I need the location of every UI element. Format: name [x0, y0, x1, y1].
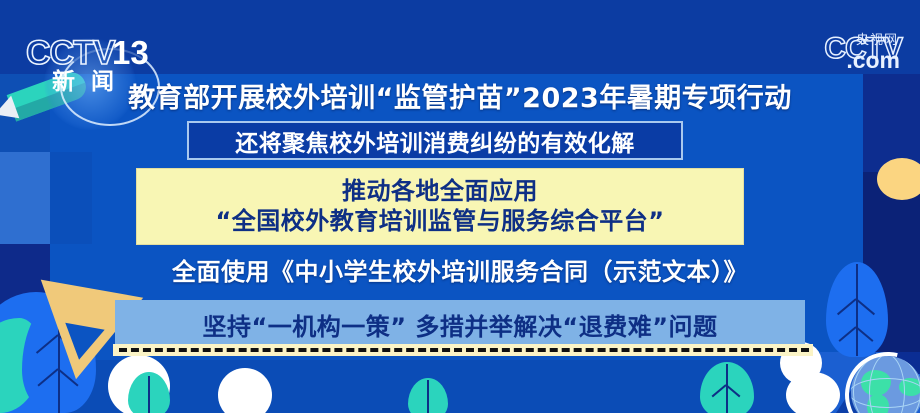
page-title: 教育部开展校外培训“监管护苗”2023年暑期专项行动	[0, 76, 920, 115]
bullet-box-2: 还将聚焦校外培训消费纠纷的有效化解	[187, 121, 683, 160]
bullet-box-3: 推动各地全面应用 “全国校外教育培训监管与服务综合平台”	[136, 168, 744, 245]
bullet-text-2: 还将聚焦校外培训消费纠纷的有效化解	[235, 124, 635, 158]
bullet-text-5: 坚持“一机构一策” 多措并举解决“退费难”问题	[203, 307, 718, 342]
bullet-text-3-line2: “全国校外教育培训监管与服务综合平台”	[215, 207, 664, 236]
cctv-com-chinese: 央视网	[856, 34, 898, 47]
background-left-panel-b	[0, 152, 50, 244]
dashed-divider-line	[119, 348, 809, 352]
bullet-text-3-line1: 推动各地全面应用	[342, 177, 538, 206]
cctv-com-suffix: .com	[846, 49, 900, 72]
bullet-box-5: 坚持“一机构一策” 多措并举解决“退费难”问题	[115, 300, 805, 348]
cctv-com-logo: CCTV 央视网 .com	[824, 34, 902, 64]
background-left-panel-d	[50, 152, 92, 244]
bullet-text-4: 全面使用《中小学生校外培训服务合同（示范文本）》	[0, 252, 920, 287]
news-graphic-stage: CCTV 13 新闻 CCTV 央视网 .com 教育部开展校外培训“监管护苗”…	[0, 0, 920, 413]
background-bottom-strip	[0, 360, 920, 413]
background-right-panel-c	[820, 352, 920, 413]
